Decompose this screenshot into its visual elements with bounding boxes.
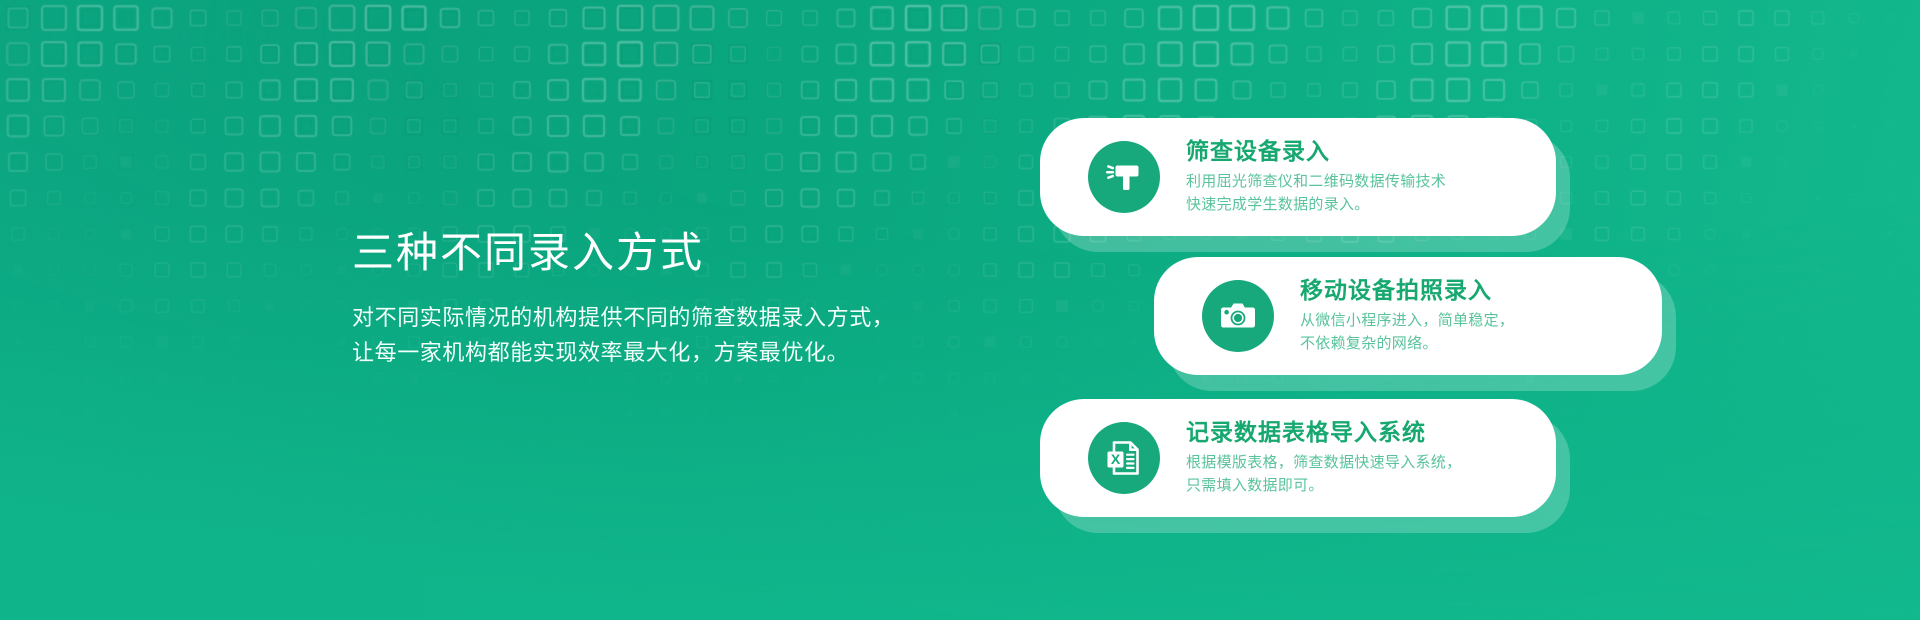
left-copy-block: 三种不同录入方式 对不同实际情况的机构提供不同的筛查数据录入方式， 让每一家机构… (352, 228, 1052, 371)
page-subtitle: 对不同实际情况的机构提供不同的筛查数据录入方式， 让每一家机构都能实现效率最大化… (352, 300, 1052, 371)
card-title: 记录数据表格导入系统 (1186, 418, 1461, 447)
card-text-block: 筛查设备录入 利用屈光筛查仪和二维码数据传输技术 快速完成学生数据的录入。 (1186, 137, 1446, 216)
card-description: 从微信小程序进入，简单稳定， 不依赖复杂的网络。 (1300, 310, 1514, 356)
camera-icon (1202, 280, 1274, 352)
card-description: 利用屈光筛查仪和二维码数据传输技术 快速完成学生数据的录入。 (1186, 171, 1446, 217)
card-title: 移动设备拍照录入 (1300, 276, 1514, 305)
card-title: 筛查设备录入 (1186, 137, 1446, 166)
svg-text:X: X (1111, 451, 1121, 467)
card-text-block: 记录数据表格导入系统 根据模版表格，筛查数据快速导入系统， 只需填入数据即可。 (1186, 418, 1461, 497)
feature-card-excel-import[interactable]: X 记录数据表格导入系统 根据模版表格，筛查数据快速导入系统， 只需填入数据即可… (1040, 399, 1556, 517)
card-text-block: 移动设备拍照录入 从微信小程序进入，简单稳定， 不依赖复杂的网络。 (1300, 276, 1514, 355)
page-title: 三种不同录入方式 (352, 228, 1052, 278)
excel-file-icon: X (1088, 422, 1160, 494)
feature-card-mobile-photo[interactable]: 移动设备拍照录入 从微信小程序进入，简单稳定， 不依赖复杂的网络。 (1154, 257, 1662, 375)
promo-banner: 三种不同录入方式 对不同实际情况的机构提供不同的筛查数据录入方式， 让每一家机构… (0, 0, 1920, 620)
barcode-scanner-icon (1088, 141, 1160, 213)
card-description: 根据模版表格，筛查数据快速导入系统， 只需填入数据即可。 (1186, 452, 1461, 498)
feature-card-screening-device[interactable]: 筛查设备录入 利用屈光筛查仪和二维码数据传输技术 快速完成学生数据的录入。 (1040, 118, 1556, 236)
